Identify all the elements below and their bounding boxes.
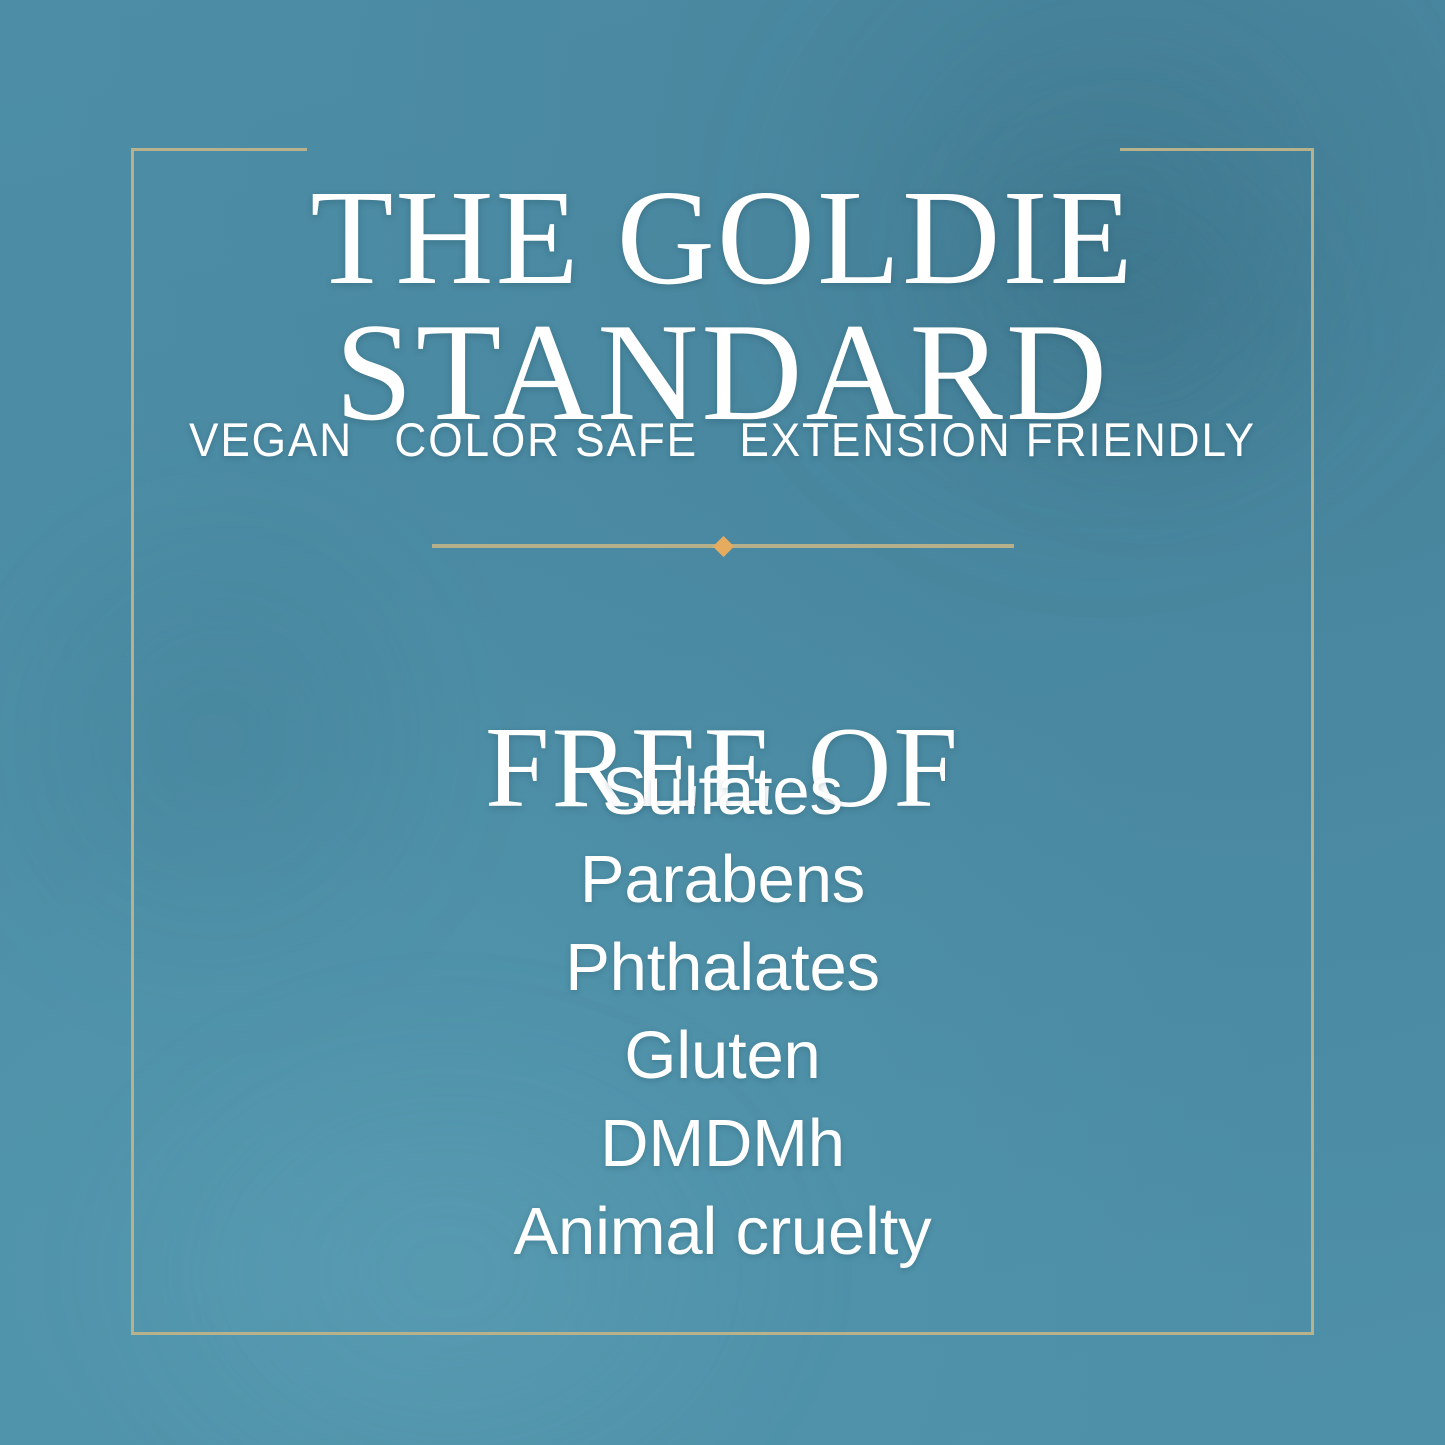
ornamental-divider — [432, 537, 1014, 555]
free-of-list: Sulfates Parabens Phthalates Gluten DMDM… — [0, 748, 1445, 1276]
list-item: DMDMh — [0, 1100, 1445, 1188]
page-title: THE GOLDIE STANDARD — [0, 173, 1445, 441]
diamond-ornament-icon — [712, 535, 733, 556]
list-item: Parabens — [0, 836, 1445, 924]
claim-badge-vegan: VEGAN — [189, 412, 353, 467]
claims-row: VEGAN COLOR SAFE EXTENSION FRIENDLY — [43, 412, 1401, 467]
product-claims-card: THE GOLDIE STANDARD VEGAN COLOR SAFE EXT… — [0, 0, 1445, 1445]
frame-border-top-right — [1120, 148, 1314, 151]
page-title-line-1: THE GOLDIE — [0, 173, 1445, 305]
list-item: Gluten — [0, 1012, 1445, 1100]
list-item: Sulfates — [0, 748, 1445, 836]
list-item: Phthalates — [0, 924, 1445, 1012]
claim-badge-extension-friendly: EXTENSION FRIENDLY — [739, 412, 1256, 467]
list-item: Animal cruelty — [0, 1188, 1445, 1276]
frame-border-top-left — [131, 148, 307, 151]
frame-border-bottom — [131, 1332, 1314, 1335]
claim-badge-color-safe: COLOR SAFE — [394, 412, 698, 467]
